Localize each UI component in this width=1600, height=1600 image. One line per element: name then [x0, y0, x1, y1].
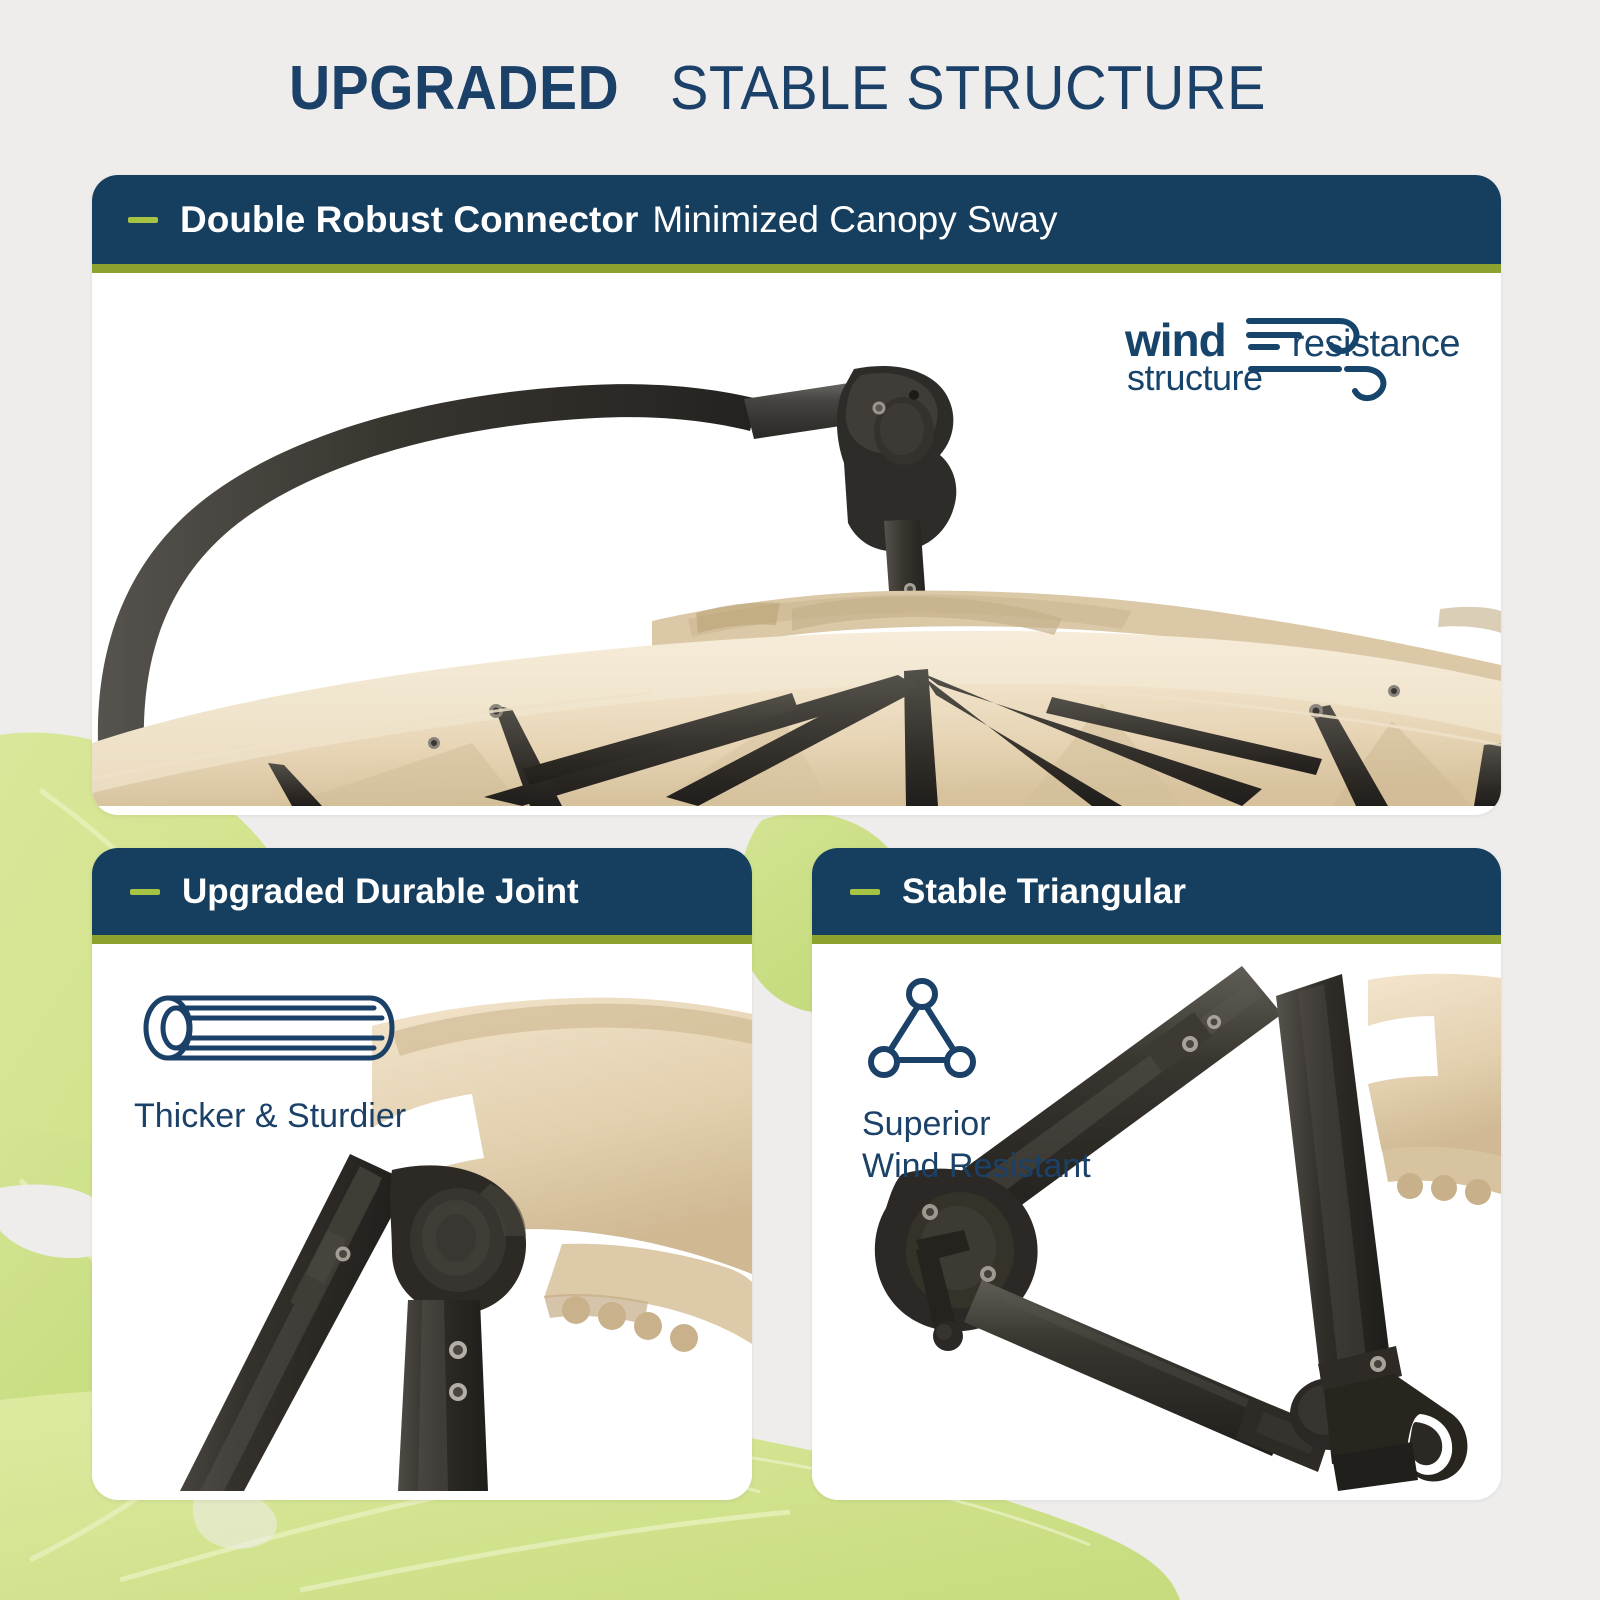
page-title: UPGRADED STABLE STRUCTURE: [0, 52, 1600, 126]
feature-thicker-sturdier: Thicker & Sturdier: [134, 982, 406, 1137]
feature-label-thicker-sturdier: Thicker & Sturdier: [134, 1095, 406, 1137]
feature-superior-wind-resistant: Superior Wind Resistant: [862, 976, 1091, 1187]
card-top-body: wind resistance structure: [92, 273, 1501, 806]
card-bottom-left-header: Upgraded Durable Joint: [92, 848, 752, 944]
dash-icon: [130, 889, 160, 895]
card-bottom-right-heading: Stable Triangular: [902, 872, 1186, 912]
card-bottom-right-header: Stable Triangular: [812, 848, 1501, 944]
card-bottom-left-heading: Upgraded Durable Joint: [182, 872, 579, 912]
card-bottom-left-body: Thicker & Sturdier: [92, 944, 752, 1491]
dash-icon: [128, 217, 158, 223]
tube-thickness-icon: [134, 982, 406, 1074]
card-top-header: Double Robust Connector Minimized Canopy…: [92, 175, 1501, 273]
wind-logo-word-resistance: resistance: [1292, 323, 1460, 366]
title-bold-part: UPGRADED: [289, 52, 619, 126]
card-upgraded-durable-joint: Upgraded Durable Joint: [92, 848, 752, 1500]
card-stable-triangular: Stable Triangular: [812, 848, 1501, 1500]
feature-label-superior-wind-resistant: Superior Wind Resistant: [862, 1103, 1091, 1187]
dash-icon: [850, 889, 880, 895]
card-top-heading-bold: Double Robust Connector: [180, 199, 638, 241]
wind-resistance-logo: wind resistance structure: [1103, 295, 1423, 405]
wind-logo-word-structure: structure: [1127, 357, 1263, 399]
card-top-heading-light: Minimized Canopy Sway: [652, 199, 1057, 241]
title-light-part: STABLE STRUCTURE: [670, 52, 1266, 126]
card-bottom-right-body: Superior Wind Resistant: [812, 944, 1501, 1491]
triangle-nodes-icon: [862, 976, 982, 1080]
card-double-robust-connector: Double Robust Connector Minimized Canopy…: [92, 175, 1501, 815]
